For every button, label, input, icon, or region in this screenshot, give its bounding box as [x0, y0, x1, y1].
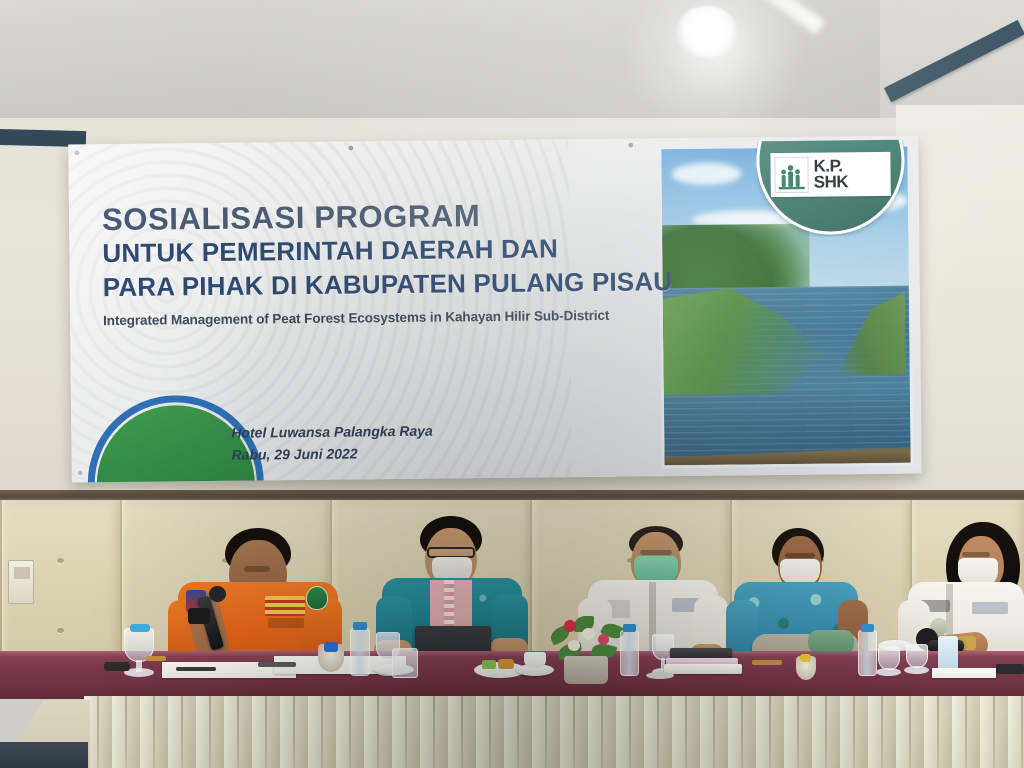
pen[interactable]	[176, 667, 216, 671]
rank-ribbon	[265, 596, 305, 616]
table-skirt-fold	[657, 696, 659, 768]
shoulder-patch-right	[306, 586, 328, 610]
banner-subtitle: Integrated Management of Peat Forest Eco…	[103, 307, 683, 328]
banner-grommet	[628, 143, 633, 148]
water-bottle[interactable]	[858, 630, 877, 676]
table-skirt-fold	[965, 696, 967, 768]
flower-vase	[564, 656, 608, 684]
conference-room-photo: K.P. SHK SOSIALISASI PROGRAM UNTUK PEMER…	[0, 0, 1024, 768]
banner-date: Rabu, 29 Juni 2022	[231, 442, 433, 466]
event-banner: K.P. SHK SOSIALISASI PROGRAM UNTUK PEMER…	[68, 136, 921, 483]
kpshk-logo-box: K.P. SHK	[770, 152, 890, 197]
table-skirt-fold	[881, 696, 883, 768]
mobile-phone[interactable]	[104, 662, 130, 671]
table-skirt-fold	[573, 696, 575, 768]
table-skirt-fold	[237, 696, 239, 768]
table-skirt	[84, 696, 1024, 768]
wine-goblet[interactable]	[906, 644, 928, 668]
table-skirt-fold	[489, 696, 491, 768]
goblet-foot	[904, 666, 929, 674]
banner-grommet	[74, 150, 79, 155]
water-bottle[interactable]	[620, 630, 639, 676]
table-skirt-fold	[97, 696, 99, 768]
table-skirt-fold	[349, 696, 351, 768]
table-skirt-fold	[713, 696, 715, 768]
table-skirt-fold	[125, 696, 127, 768]
bottle-cap	[861, 624, 874, 632]
table-skirt-fold	[461, 696, 463, 768]
table-skirt-fold	[209, 696, 211, 768]
water-bottle[interactable]	[350, 628, 370, 676]
pen[interactable]	[752, 660, 782, 665]
table-skirt-fold	[377, 696, 379, 768]
wall-switch-plate[interactable]	[8, 560, 34, 604]
table-skirt-fold	[153, 696, 155, 768]
banner-grommet	[348, 145, 353, 150]
flower-red	[564, 620, 576, 632]
banner-venue: Hotel Luwansa Palangka Raya	[231, 421, 433, 445]
dessert-topping	[800, 654, 811, 662]
table-skirt-fold	[405, 696, 407, 768]
banner-grommet	[78, 470, 83, 475]
paper-document[interactable]	[932, 668, 996, 678]
pen[interactable]	[258, 662, 296, 667]
goblet-foot	[876, 668, 901, 676]
table-skirt-fold	[937, 696, 939, 768]
table-skirt-fold	[293, 696, 295, 768]
table-skirt-fold	[265, 696, 267, 768]
table-skirt-fold	[825, 696, 827, 768]
people-icon	[774, 157, 808, 193]
kpshk-logo: K.P. SHK	[756, 140, 905, 238]
table-skirt-fold	[181, 696, 183, 768]
flower-white	[582, 628, 595, 640]
microphone-head-icon	[209, 586, 226, 602]
eyes	[244, 566, 270, 572]
wall-panel-tuft	[57, 558, 64, 563]
table-skirt-fold	[769, 696, 771, 768]
banner-text-block: SOSIALISASI PROGRAM UNTUK PEMERINTAH DAE…	[102, 198, 683, 329]
pen[interactable]	[146, 656, 166, 661]
table-skirt-fold	[685, 696, 687, 768]
fried-snack	[498, 659, 514, 669]
dessert-topping	[324, 642, 338, 652]
green-snack	[482, 660, 496, 669]
table-skirt-fold	[741, 696, 743, 768]
eyes	[640, 550, 672, 555]
table-skirt-fold	[433, 696, 435, 768]
glass-lid	[130, 624, 150, 632]
table-skirt-fold	[629, 696, 631, 768]
coffee-cup[interactable]	[524, 652, 546, 668]
wine-goblet[interactable]	[878, 646, 900, 670]
hand-sanitizer-bottle[interactable]	[938, 636, 958, 672]
eyes	[785, 553, 815, 558]
table-skirt-fold	[797, 696, 799, 768]
table-skirt-fold	[993, 696, 995, 768]
spoon	[646, 672, 674, 679]
mobile-phone[interactable]	[996, 664, 1024, 674]
wristwatch	[188, 608, 210, 624]
banner-title-line3: PARA PIHAK DI KABUPATEN PULANG PISAU	[103, 265, 683, 305]
table-skirt-fold	[321, 696, 323, 768]
eyes	[962, 552, 990, 557]
wall-panel-tuft	[57, 628, 64, 633]
flower-pink	[598, 634, 609, 645]
table-skirt-fold	[545, 696, 547, 768]
table-skirt-fold	[601, 696, 603, 768]
table-skirt-fold	[853, 696, 855, 768]
floor	[0, 742, 88, 768]
kpshk-line2: SHK	[814, 174, 849, 190]
ceiling-spotlight-icon	[676, 6, 738, 58]
bottle-cap	[353, 622, 367, 630]
banner-venue-block: Hotel Luwansa Palangka Raya Rabu, 29 Jun…	[231, 421, 433, 466]
table-skirt-fold	[1021, 696, 1023, 768]
bottle-cap	[623, 624, 636, 632]
kpshk-logo-text: K.P. SHK	[813, 159, 848, 191]
name-tag	[268, 618, 304, 628]
notebook-white[interactable]	[664, 664, 742, 674]
flower-arrangement	[548, 614, 624, 676]
table-skirt-fold	[517, 696, 519, 768]
flower-white	[568, 640, 580, 651]
name-tape	[972, 602, 1008, 614]
drinking-glass[interactable]	[392, 648, 418, 678]
table-skirt-fold	[909, 696, 911, 768]
